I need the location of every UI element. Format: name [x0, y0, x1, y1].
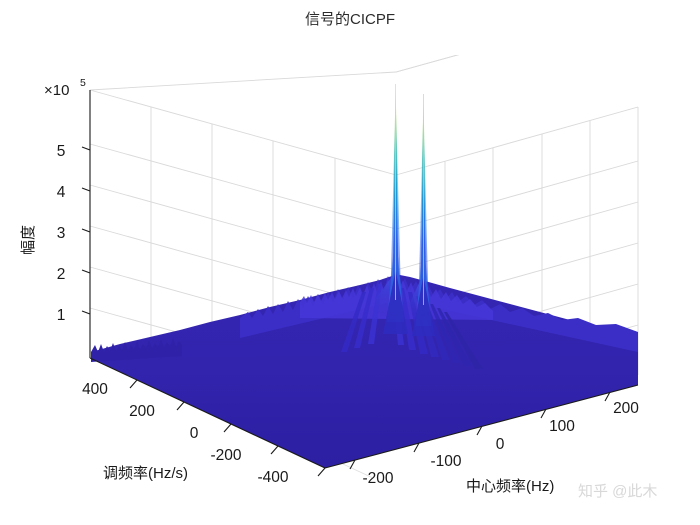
z-exponent-base: ×10 — [44, 82, 69, 99]
z-tick-label: 1 — [57, 307, 66, 324]
x-axis-label: 中心频率(Hz) — [466, 478, 554, 495]
y-tick-label: 400 — [82, 381, 108, 398]
figure-window: 信号的CICPF ×10 5 5 4 3 2 1 幅度 400 200 0 -2… — [0, 0, 700, 525]
y-axis-label: 调频率(Hz/s) — [103, 465, 188, 482]
x-tick-label: -100 — [430, 453, 461, 470]
z-tick-label: 4 — [57, 184, 66, 201]
z-tick-label: 2 — [57, 266, 66, 283]
z-tick-label: 5 — [57, 143, 66, 160]
y-tick-label: 0 — [190, 425, 199, 442]
surface-mesh — [91, 84, 638, 468]
z-axis-label: 幅度 — [20, 225, 37, 255]
z-exponent-power: 5 — [80, 77, 86, 89]
z-tick-labels: 5 4 3 2 1 — [57, 143, 66, 324]
x-tick-label: 200 — [613, 400, 639, 417]
x-tick-label: -200 — [362, 470, 393, 487]
y-tick-label: 200 — [129, 403, 155, 420]
plot-title: 信号的CICPF — [305, 11, 395, 28]
watermark-text: 知乎 @此木 — [578, 483, 657, 500]
z-axis-exponent: ×10 5 — [44, 77, 86, 99]
y-tick-label: -200 — [210, 447, 241, 464]
z-tick-marks — [82, 147, 90, 314]
z-tick-label: 3 — [57, 225, 66, 242]
x-tick-label: 0 — [496, 436, 505, 453]
x-tick-label: 100 — [549, 418, 575, 435]
y-tick-label: -400 — [257, 469, 288, 486]
matlab-surface-plot: 信号的CICPF ×10 5 5 4 3 2 1 幅度 400 200 0 -2… — [0, 0, 700, 525]
